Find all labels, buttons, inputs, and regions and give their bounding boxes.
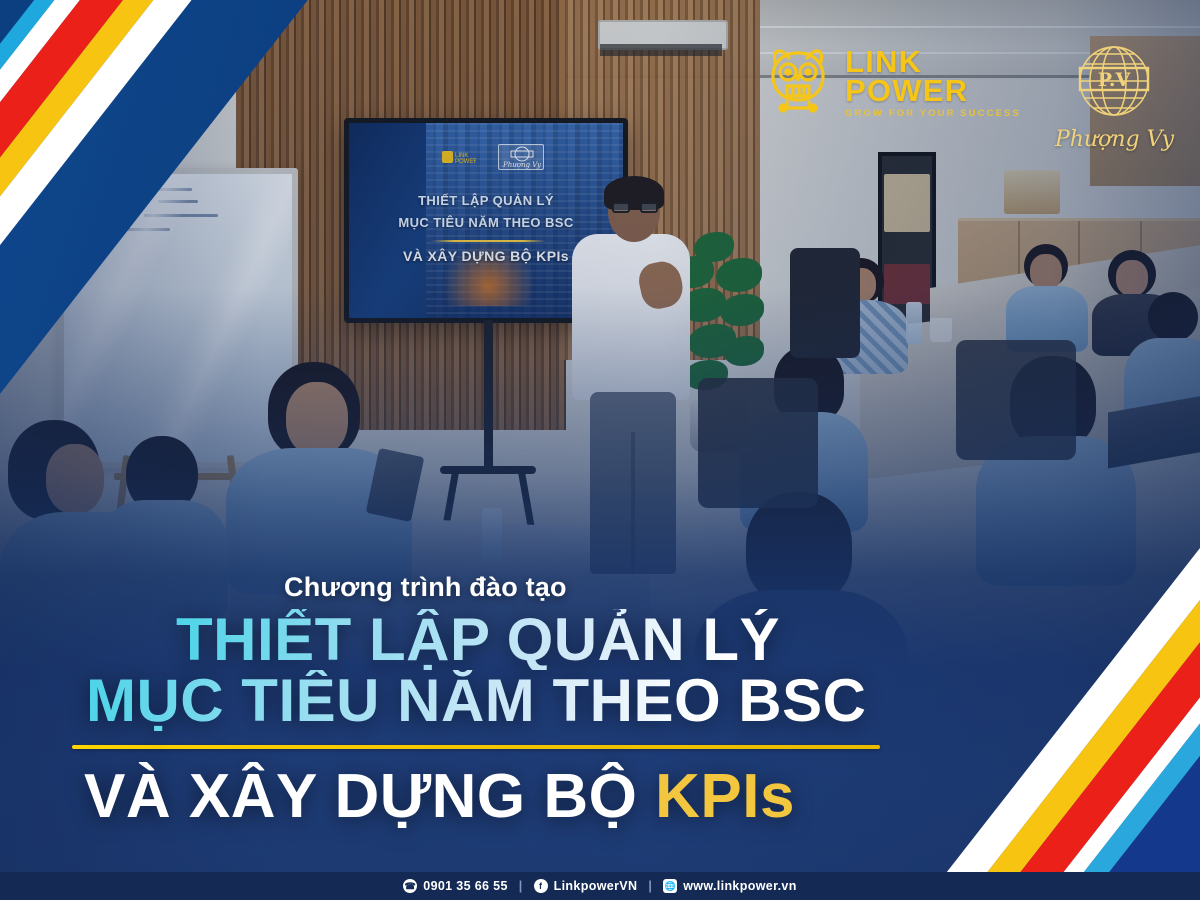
footer-separator-1: | xyxy=(519,879,523,893)
footer-phone-text: 0901 35 66 55 xyxy=(423,879,508,893)
footer-website-text: www.linkpower.vn xyxy=(683,879,797,893)
headline-kicker: Chương trình đào tạo xyxy=(284,572,952,603)
owl-icon xyxy=(765,44,831,123)
phone-icon: ☎ xyxy=(403,879,417,893)
phuongvy-logo: P.V Phượng Vy xyxy=(1055,44,1174,152)
footer-facebook-text: LinkpowerVN xyxy=(554,879,638,893)
globe-pv-icon: P.V xyxy=(1068,44,1160,127)
headline-line-1: THIẾT LẬP QUẢN LÝ xyxy=(176,609,952,670)
headline-line-3: VÀ XÂY DỰNG BỘ KPIs xyxy=(84,761,952,832)
brand-logos: LINK POWER GROW FOR YOUR SUCCESS xyxy=(765,44,1174,152)
headline-line-2: MỤC TIÊU NĂM THEO BSC xyxy=(86,670,952,731)
footer-phone[interactable]: ☎ 0901 35 66 55 xyxy=(403,879,508,893)
headline-divider xyxy=(72,745,880,749)
linkpower-tagline: GROW FOR YOUR SUCCESS xyxy=(845,110,1021,119)
linkpower-wordmark: LINK POWER GROW FOR YOUR SUCCESS xyxy=(845,48,1021,119)
contact-footer: ☎ 0901 35 66 55 | f LinkpowerVN | 🌐 www.… xyxy=(0,872,1200,900)
linkpower-logo: LINK POWER GROW FOR YOUR SUCCESS xyxy=(765,44,1021,123)
footer-separator-2: | xyxy=(648,879,652,893)
headline-line-3-accent: KPIs xyxy=(655,762,795,831)
headline-block: Chương trình đào tạo THIẾT LẬP QUẢN LÝ M… xyxy=(72,572,952,832)
headline-line-3-prefix: VÀ XÂY DỰNG BỘ xyxy=(84,762,655,831)
footer-facebook[interactable]: f LinkpowerVN xyxy=(534,879,638,893)
facebook-icon: f xyxy=(534,879,548,893)
phuongvy-wordmark: Phượng Vy xyxy=(1055,127,1174,152)
linkpower-line-2: POWER xyxy=(845,77,1021,106)
footer-website[interactable]: 🌐 www.linkpower.vn xyxy=(663,879,797,893)
svg-text:P.V: P.V xyxy=(1098,69,1132,91)
poster-root: LINK POWER Phượng Vy THIẾT LẬP QUẢN LÝ M… xyxy=(0,0,1200,900)
globe-icon: 🌐 xyxy=(663,879,677,893)
